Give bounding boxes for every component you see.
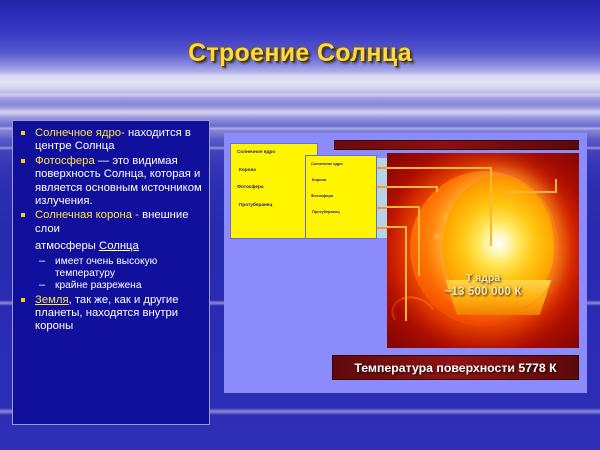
- bullet-lead-text: Солнечная корона -: [35, 209, 139, 221]
- surface-temperature-caption: Температура поверхности 5778 К: [332, 355, 579, 380]
- legend-item-core: Солнечное ядро: [311, 161, 373, 166]
- bullet-square-icon: [21, 213, 25, 217]
- annotation-line-corona-h2: [505, 191, 557, 193]
- annotation-line-corona-v2: [555, 179, 557, 192]
- annotation-line-photosphere-v: [418, 206, 420, 276]
- legend-item-prominence: Протуберанец: [312, 209, 373, 214]
- decorative-red-bar: [334, 140, 579, 150]
- legend-item-prominence: Протуберанец: [239, 202, 313, 207]
- sub-bullet-text: крайне разрежена: [55, 280, 141, 291]
- list-item: Земля, так же, как и другие планеты, нах…: [17, 294, 204, 334]
- sub-bullet-text: имеет очень высокую температуру: [55, 256, 157, 279]
- hyperlink-sun[interactable]: Солнца: [99, 240, 139, 252]
- page-title: Строение Солнца: [0, 39, 600, 68]
- legend-box-small: Солнечное ядро Корона Фотосфера Протубер…: [305, 155, 377, 239]
- bullet-body-text: атмосферы: [35, 240, 99, 252]
- list-item: Фотосфера — это видимая поверхность Солн…: [17, 155, 204, 209]
- annotation-line-corona-h: [387, 186, 437, 188]
- legend-item-corona: Корона: [239, 167, 313, 172]
- bullet-square-icon: [21, 298, 25, 302]
- legend-connector-strip: [377, 158, 387, 238]
- list-item: – имеет очень высокую температуру: [35, 256, 204, 280]
- list-item: Солнечное ядро- находится в центре Солнц…: [17, 127, 204, 154]
- core-temperature-label: Т ядра ~13 500 000 К: [387, 271, 579, 299]
- annotation-line-core-h: [387, 167, 491, 169]
- horizon-haze-band: [0, 92, 600, 98]
- diagram-panel: Солнечное ядро Корона Фотосфера Протубер…: [224, 133, 587, 393]
- bullet-lead-text: Фотосфера: [35, 155, 95, 167]
- bullet-square-icon: [21, 159, 25, 163]
- bullet-square-icon: [21, 131, 25, 135]
- legend-item-photosphere: Фотосфера: [237, 184, 313, 189]
- legend-item-corona: Корона: [312, 177, 373, 182]
- list-item: Солнечная корона - внешние слои атмосфер…: [17, 209, 204, 291]
- list-item: – крайне разрежена: [35, 280, 204, 292]
- dash-bullet-icon: –: [39, 255, 45, 267]
- horizon-haze-band: [0, 108, 600, 117]
- annotation-line-core-v: [490, 167, 492, 246]
- sub-bullet-list: – имеет очень высокую температуру – край…: [35, 256, 204, 292]
- annotation-line-corona-v: [436, 186, 438, 192]
- hyperlink-earth[interactable]: Земля: [35, 294, 69, 306]
- horizon-haze-band: [0, 72, 600, 82]
- annotation-line-photosphere-h: [387, 206, 419, 208]
- sun-cutaway-photo: Т ядра ~13 500 000 К: [387, 153, 579, 348]
- bullet-lead-text: Солнечное ядро-: [35, 127, 125, 139]
- bullet-list: Солнечное ядро- находится в центре Солнц…: [17, 127, 204, 334]
- dash-bullet-icon: –: [39, 279, 45, 291]
- core-temperature-title: Т ядра: [387, 271, 579, 285]
- content-text-panel: Солнечное ядро- находится в центре Солнц…: [12, 120, 210, 425]
- annotation-line-prominence-h: [387, 226, 406, 228]
- core-temperature-value: ~13 500 000 К: [387, 285, 579, 299]
- legend-item-core: Солнечное ядро: [237, 149, 313, 154]
- legend-item-photosphere: Фотосфера: [311, 193, 373, 198]
